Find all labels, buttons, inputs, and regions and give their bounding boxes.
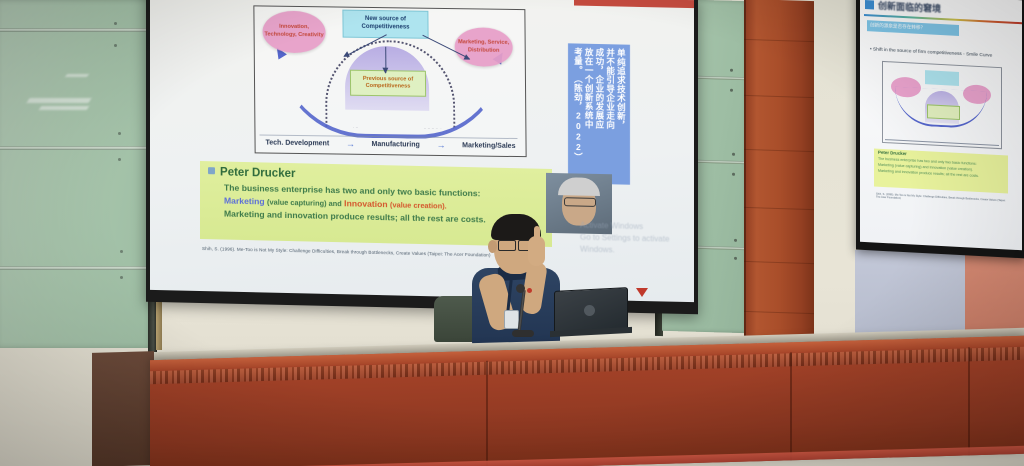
presenter-id-badge (504, 310, 519, 329)
watermark-line-2: Go to Settings to activate Windows. (580, 232, 690, 258)
microphone-base (512, 330, 534, 337)
wood-column (744, 0, 814, 353)
monitor-title-row: 创新面临的窘境 (865, 0, 941, 15)
chinese-callout-col-3: 成功，企业的发展应 (594, 48, 604, 180)
drucker-innovation-word: Innovation (344, 198, 387, 209)
monitor-smile-diagram (882, 61, 1002, 149)
presenter (468, 214, 564, 344)
bullet-square-icon (208, 167, 215, 174)
chinese-callout-col-5: 考量。（陈劲，2022） (573, 47, 583, 179)
monitor-bullet: • Shift in the source of firm competitiv… (870, 47, 992, 58)
laptop-logo-icon (584, 305, 595, 316)
new-source-label: New source of Competitiveness (343, 16, 427, 33)
green-glass-wall-left (0, 0, 152, 348)
monitor-subtitle: 创新的源泉是否存在转移？ (867, 20, 959, 35)
smile-curve-diagram: Innovation, Technology, Creativity Marke… (253, 5, 526, 157)
lecture-hall-photo: Innovation, Technology, Creativity Marke… (0, 0, 1024, 466)
podium-left-end (92, 351, 154, 466)
axis-label-manufacturing: Manufacturing (372, 141, 420, 149)
windows-activation-watermark: Activate Windows Go to Settings to activ… (580, 220, 690, 258)
axis-arrow-2: → (436, 140, 445, 150)
projection-screen: Innovation, Technology, Creativity Marke… (150, 0, 694, 302)
secondary-monitor-screen: 创新面临的窘境 创新的源泉是否存在转移？ • Shift in the sour… (860, 0, 1022, 250)
connector-arrow-center (385, 47, 386, 73)
secondary-monitor-frame: 创新面临的窘境 创新的源泉是否存在转移？ • Shift in the sour… (856, 0, 1024, 258)
oval-marketing-label: Marketing, Service, Distribution (455, 39, 513, 55)
monitor-smile-curve (895, 87, 987, 130)
diagram-axis: Tech. Development → Manufacturing → Mark… (260, 137, 522, 151)
presenter-ear (488, 240, 497, 253)
oval-innovation-label: Innovation, Technology, Creativity (263, 24, 326, 40)
axis-label-tech: Tech. Development (266, 139, 330, 147)
chinese-callout-col-2: 并不能引导企业走向 (605, 48, 615, 180)
chinese-callout-col-1: 单纯追求技术创新， (616, 48, 626, 180)
previous-source-label: Previous source of Competitiveness (351, 75, 425, 91)
drucker-value-capturing: (value capturing) and (267, 197, 342, 208)
podium-panel-divider (790, 352, 792, 460)
slide-accent-bar (574, 0, 694, 8)
monitor-new-source-box (925, 70, 959, 86)
title-marker-icon (865, 0, 874, 9)
monitor-axis-line (885, 139, 999, 146)
oval-innovation: Innovation, Technology, Creativity (262, 10, 325, 53)
monitor-subtitle-band: 创新的源泉是否存在转移？ (867, 20, 959, 36)
previous-source-box: Previous source of Competitiveness (350, 70, 426, 97)
axis-arrow-1: → (346, 139, 355, 149)
presenter-pointing-finger (534, 226, 540, 244)
monitor-drucker-block: Peter Drucker The business enterprise ha… (874, 148, 1008, 193)
red-marker-triangle (636, 288, 648, 297)
monitor-bullet-label: Shift in the source of firm competitiven… (873, 47, 992, 58)
drucker-marketing-word: Marketing (224, 195, 265, 206)
chinese-callout-box: 单纯追求技术创新， 并不能引导企业走向 成功，企业的发展应 放在一个创新系统中 … (568, 43, 630, 184)
drucker-title: Peter Drucker (220, 166, 295, 180)
monitor-title: 创新面临的窘境 (878, 0, 941, 15)
microphone-indicator-light (527, 288, 532, 293)
axis-label-marketing: Marketing/Sales (462, 142, 515, 150)
oval-marketing: Marketing, Service, Distribution (455, 27, 513, 67)
podium-panel-divider (968, 347, 970, 455)
laptop[interactable] (554, 289, 626, 337)
podium-panel-divider (486, 361, 488, 466)
microphone-capsule (516, 284, 525, 293)
projection-screen-frame: Innovation, Technology, Creativity Marke… (146, 0, 698, 314)
drucker-value-creation: (value creation). (390, 200, 447, 210)
chinese-callout-col-4: 放在一个创新系统中 (583, 48, 593, 180)
monitor-citation: Shih, S. (1996). Me-Too is Not My Style:… (876, 193, 1008, 206)
